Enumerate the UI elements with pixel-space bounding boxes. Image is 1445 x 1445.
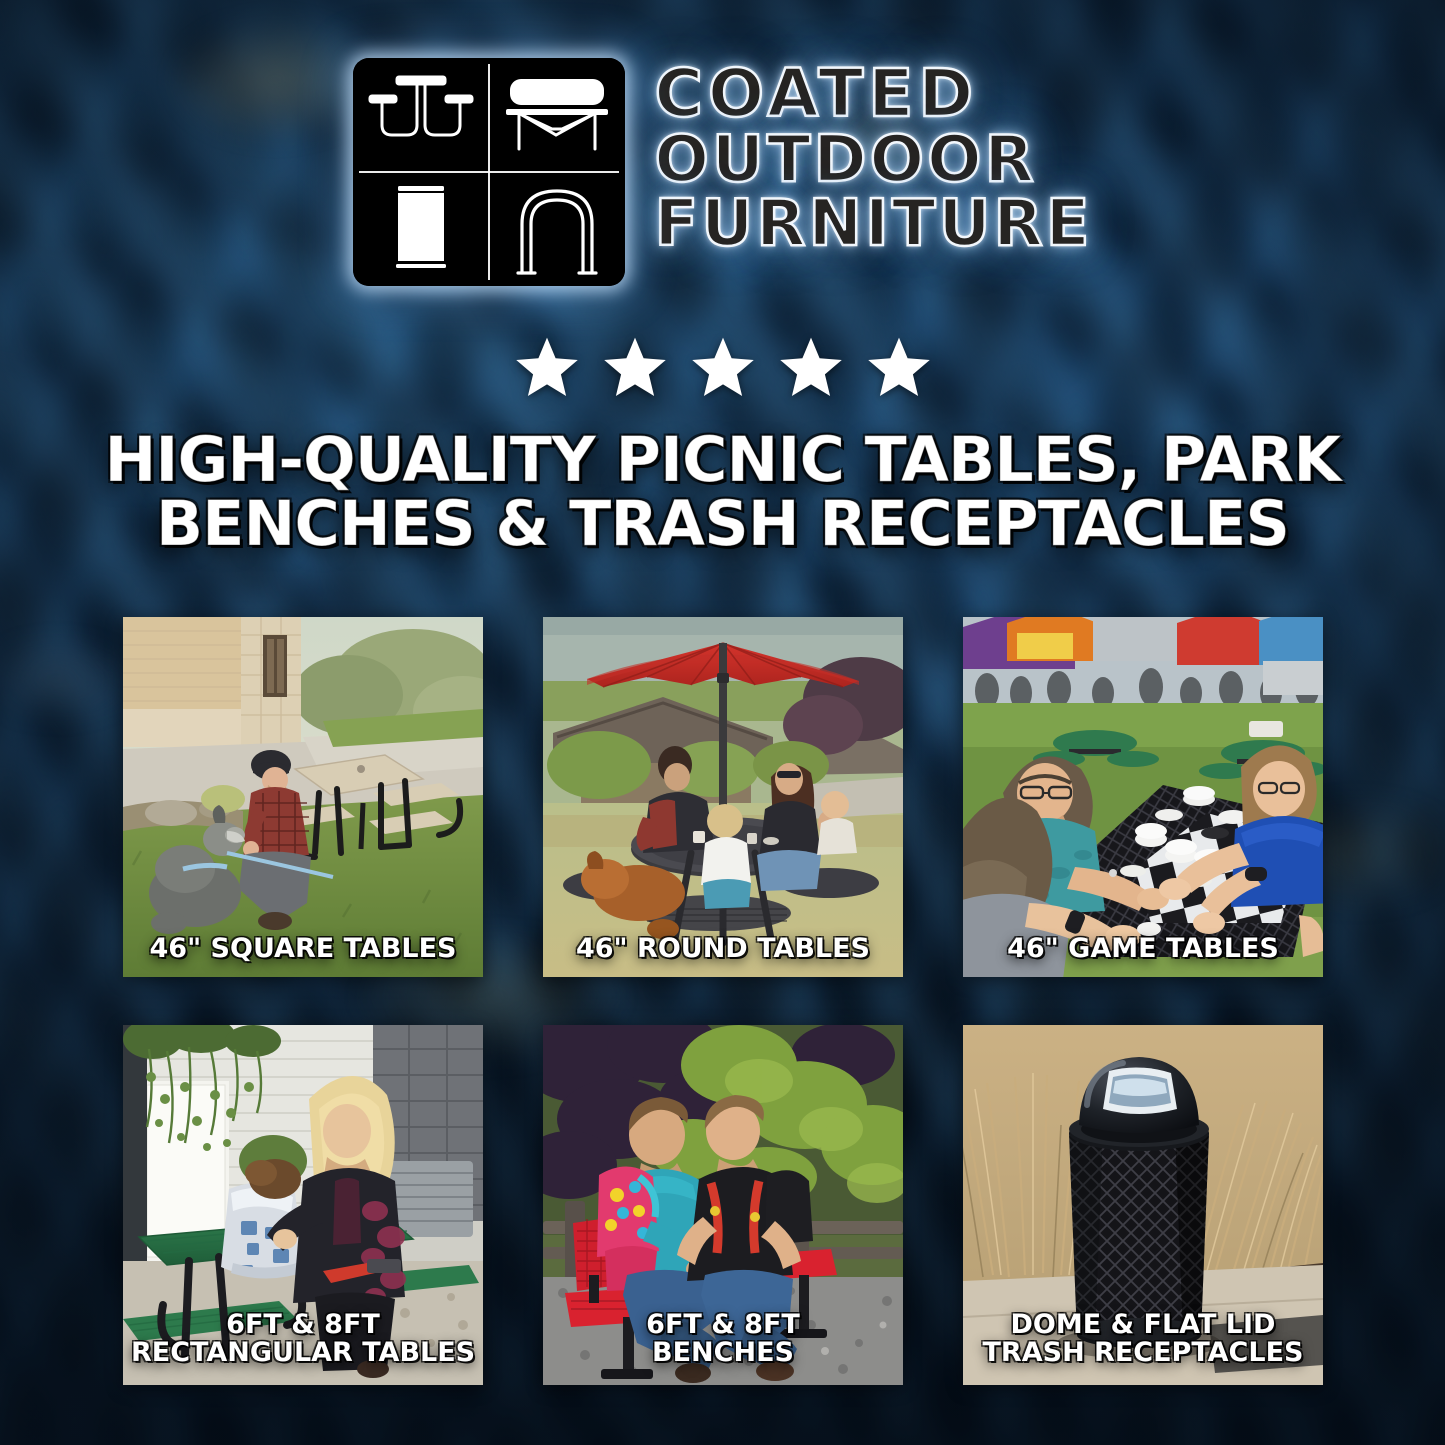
star-icon <box>598 333 672 403</box>
brand-word-outdoor: OUTDOOR <box>655 129 1093 192</box>
star-icon <box>510 333 584 403</box>
product-caption-line-2: RECTANGULAR TABLES <box>131 1339 475 1367</box>
trash-receptacle-icon <box>382 180 460 278</box>
product-caption: 46" SQUARE TABLES <box>123 935 483 963</box>
star-icon <box>686 333 760 403</box>
product-caption-line-1: 46" SQUARE TABLES <box>131 935 475 963</box>
product-caption: 6FT & 8FT BENCHES <box>543 1311 903 1367</box>
promotional-poster: COATED OUTDOOR FURNITURE HIGH-QUALITY PI… <box>0 0 1445 1445</box>
product-caption-line-1: 6FT & 8FT <box>131 1311 475 1339</box>
product-caption: DOME & FLAT LID TRASH RECEPTACLES <box>963 1311 1323 1367</box>
star-icon <box>862 333 936 403</box>
product-tile-rectangular-tables[interactable]: 6FT & 8FT RECTANGULAR TABLES <box>123 1025 483 1385</box>
brand-wordmark: COATED OUTDOOR FURNITURE <box>655 58 1093 256</box>
brand-lockup: COATED OUTDOOR FURNITURE <box>0 58 1445 286</box>
brand-word-furniture: FURNITURE <box>655 193 1093 256</box>
star-rating <box>0 333 1445 403</box>
headline-line-2: BENCHES & TRASH RECEPTACLES <box>98 492 1348 556</box>
product-caption-line-1: 46" GAME TABLES <box>971 935 1315 963</box>
product-tile-round-tables[interactable]: 46" ROUND TABLES <box>543 617 903 977</box>
product-photo-game-tables <box>963 617 1323 977</box>
logo-quadrant-bench <box>489 58 625 172</box>
logo-quadrant-bike-rack <box>489 172 625 286</box>
product-caption-line-2: TRASH RECEPTACLES <box>971 1339 1315 1367</box>
poster-content: COATED OUTDOOR FURNITURE HIGH-QUALITY PI… <box>0 0 1445 1445</box>
product-tile-benches[interactable]: 6FT & 8FT BENCHES <box>543 1025 903 1385</box>
headline-line-1: HIGH-QUALITY PICNIC TABLES, PARK <box>98 428 1348 492</box>
picnic-table-icon <box>362 69 480 161</box>
product-caption-line-2: BENCHES <box>551 1339 895 1367</box>
headline: HIGH-QUALITY PICNIC TABLES, PARK BENCHES… <box>98 428 1348 557</box>
product-tile-square-tables[interactable]: 46" SQUARE TABLES <box>123 617 483 977</box>
park-bench-icon <box>500 69 614 161</box>
product-caption-line-1: 46" ROUND TABLES <box>551 935 895 963</box>
star-icon <box>774 333 848 403</box>
product-caption: 6FT & 8FT RECTANGULAR TABLES <box>123 1311 483 1367</box>
product-caption-line-1: 6FT & 8FT <box>551 1311 895 1339</box>
logo-quadrant-trash-receptacle <box>353 172 489 286</box>
product-grid: 46" SQUARE TABLES <box>123 617 1323 1385</box>
logo-quadrant-picnic-table <box>353 58 489 172</box>
product-caption: 46" ROUND TABLES <box>543 935 903 963</box>
product-caption: 46" GAME TABLES <box>963 935 1323 963</box>
bike-rack-icon <box>509 179 605 279</box>
brand-word-coated: COATED <box>655 62 1093 127</box>
product-tile-game-tables[interactable]: 46" GAME TABLES <box>963 617 1323 977</box>
product-caption-line-1: DOME & FLAT LID <box>971 1311 1315 1339</box>
brand-logo-mark <box>353 58 625 286</box>
product-photo-round-tables <box>543 617 903 977</box>
product-tile-trash-receptacles[interactable]: DOME & FLAT LID TRASH RECEPTACLES <box>963 1025 1323 1385</box>
product-photo-square-tables <box>123 617 483 977</box>
